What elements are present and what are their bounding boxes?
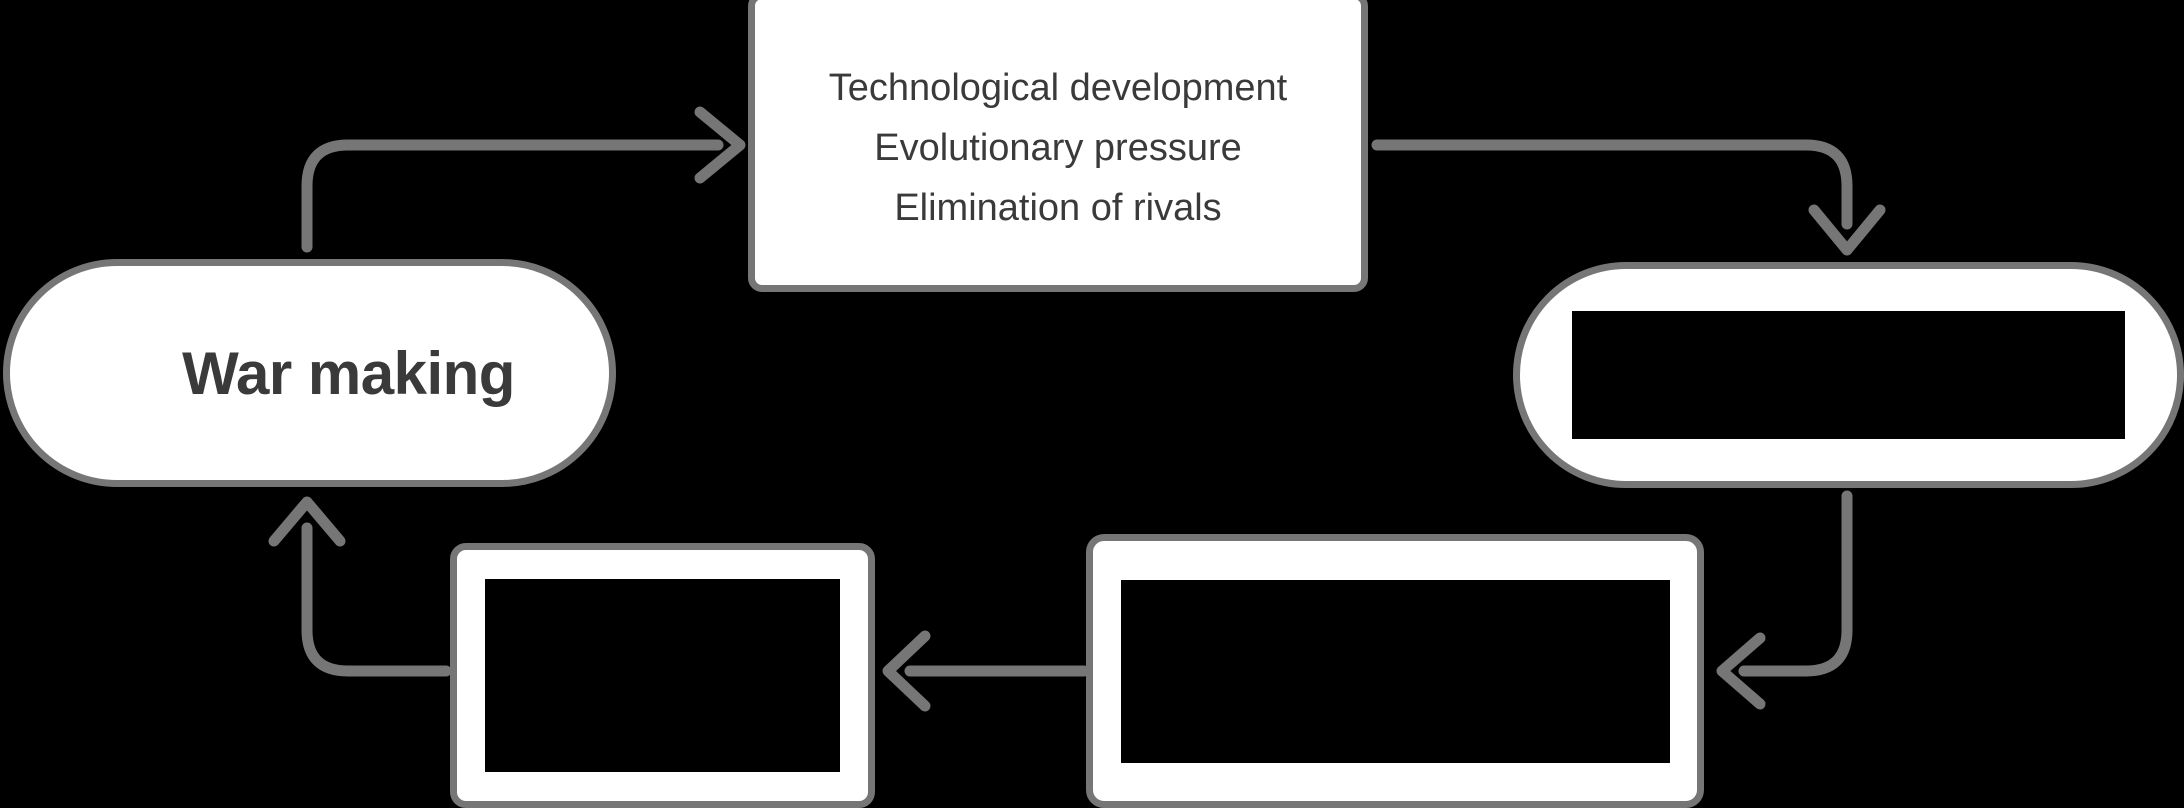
node-right-redacted[interactable] bbox=[1513, 262, 2184, 488]
redaction-block-bottom-left bbox=[485, 579, 840, 772]
driver-line-evolutionary-pressure: Evolutionary pressure bbox=[874, 118, 1242, 178]
node-war-making[interactable]: War making bbox=[3, 259, 616, 487]
node-bottom-left-redacted[interactable] bbox=[450, 543, 875, 808]
driver-line-technological-development: Technological development bbox=[829, 58, 1287, 118]
edge-drivers-to-right bbox=[1377, 145, 1880, 250]
driver-line-elimination-of-rivals: Elimination of rivals bbox=[894, 178, 1221, 238]
node-war-making-label: War making bbox=[104, 339, 515, 408]
edge-war-making-to-drivers bbox=[307, 112, 740, 247]
node-drivers[interactable]: Technological development Evolutionary p… bbox=[748, 0, 1368, 292]
edge-bottom-left-to-war-making bbox=[274, 502, 446, 671]
edge-bottom-middle-to-bottom-left bbox=[888, 636, 1084, 706]
node-bottom-middle-redacted[interactable] bbox=[1086, 534, 1704, 808]
edge-right-to-bottom-middle bbox=[1722, 496, 1847, 704]
redaction-block-right bbox=[1572, 311, 2125, 439]
redaction-block-bottom-middle bbox=[1121, 580, 1670, 763]
diagram-canvas: War making Technological development Evo… bbox=[0, 0, 2184, 808]
